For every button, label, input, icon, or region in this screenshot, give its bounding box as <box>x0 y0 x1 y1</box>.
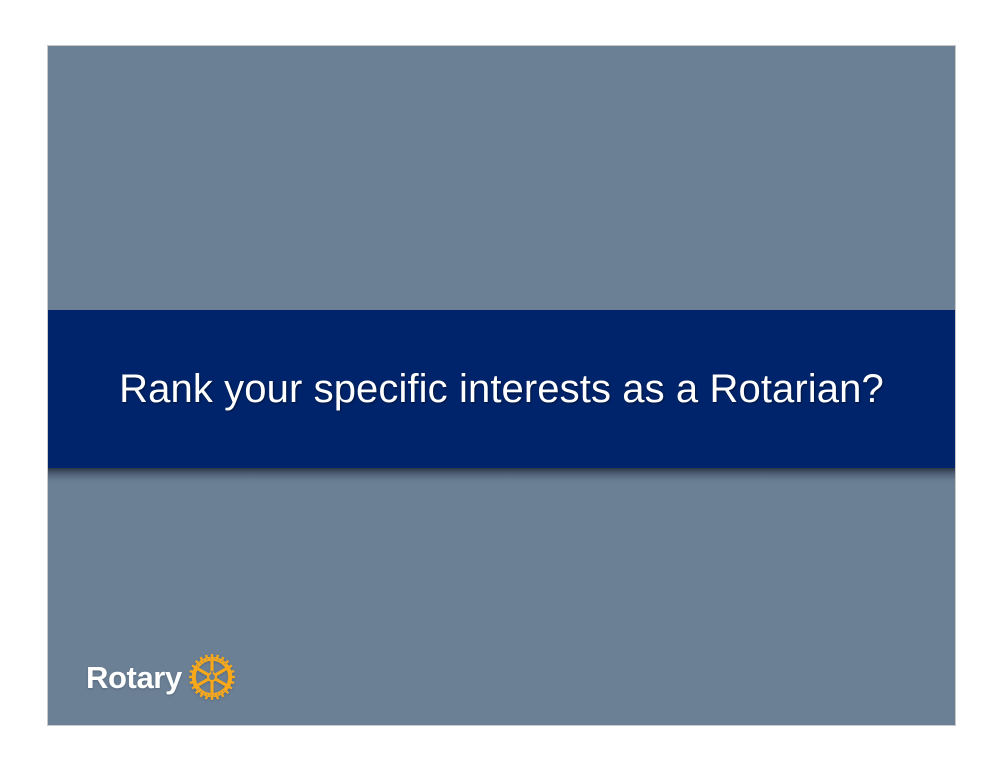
title-band: Rank your specific interests as a Rotari… <box>48 310 955 468</box>
rotary-wordmark: Rotary <box>86 662 182 693</box>
slide-title: Rank your specific interests as a Rotari… <box>95 366 908 412</box>
rotary-wheel-icon <box>189 654 235 700</box>
presentation-slide: Rank your specific interests as a Rotari… <box>47 45 956 726</box>
slide-canvas: Rank your specific interests as a Rotari… <box>0 0 1000 772</box>
rotary-logo: Rotary <box>86 654 235 700</box>
title-band-shadow <box>48 468 955 485</box>
